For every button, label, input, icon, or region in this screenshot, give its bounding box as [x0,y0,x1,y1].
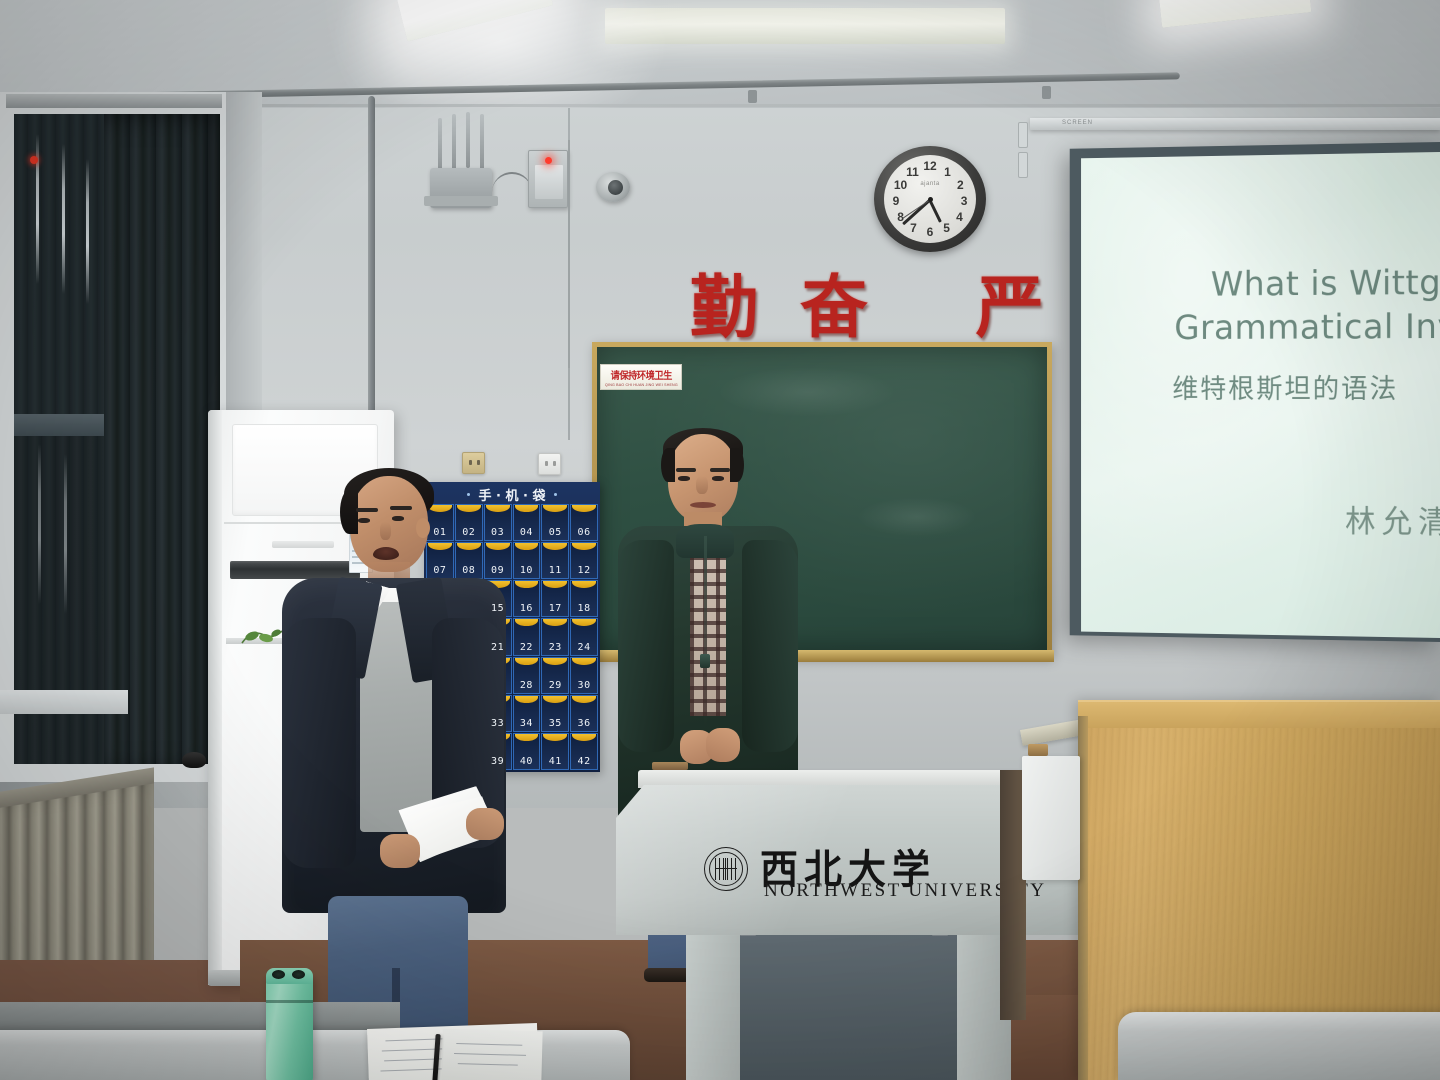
pocket-number: 11 [549,565,562,576]
clock-numeral-7: 7 [910,221,917,235]
notebook-right-line-2 [454,1053,526,1056]
lectern-leg-left [686,932,741,1080]
slide-author: 林允清 [1345,496,1440,542]
pocket-number: 21 [491,642,504,653]
clock-numeral-10: 10 [894,178,907,192]
green-thermos[interactable] [266,972,313,1080]
pocket-number: 36 [578,718,591,729]
podium-object-wood [652,762,688,770]
person-center-nose [696,476,708,494]
chalk-smudge-1 [717,367,897,417]
window-sill [0,690,128,714]
blind-rail [14,414,114,436]
white-equipment-box [1022,756,1080,880]
pocket-number: 24 [578,642,591,653]
notebook-right-page [441,1029,542,1080]
person-center-zipper-pull [700,654,710,668]
wall-outlet-white[interactable] [538,453,561,475]
pocket-number: 07 [433,565,446,576]
notebook-right-line-1 [456,1043,522,1046]
jammer-antenna-4 [480,114,484,170]
thermos-band [266,1000,313,1003]
pocket-number: 39 [491,756,504,767]
phone-pocket-28[interactable]: 28 [513,657,541,694]
clock-face: ajanta 12 1 2 3 4 5 6 7 8 9 10 11 [884,155,976,243]
phone-pocket-12[interactable]: 12 [570,542,598,579]
person-left-mouth-speaking [373,547,399,560]
clock-numeral-3: 3 [961,194,968,208]
ac-left-edge [208,410,222,985]
phone-pocket-10[interactable]: 10 [513,542,541,579]
phone-pocket-29[interactable]: 29 [541,657,569,694]
pocket-number: 22 [520,642,533,653]
header-dot-2 [554,493,557,496]
screen-mount-hook-1 [1018,122,1028,148]
thermos-opening-1 [272,970,285,979]
ac-power-led [30,156,38,164]
pocket-number: 12 [578,565,591,576]
pocket-number: 05 [549,527,562,538]
chalk-smudge-2 [857,497,977,537]
hygiene-notice-sign: 请保持环境卫生 QING BAO CHI HUAN JING WEI SHENG [600,364,682,390]
window-glass [14,114,220,764]
pocket-number: 15 [491,603,504,614]
window-blind-lower [14,436,112,764]
jammer-bracket [424,196,498,206]
pocket-number: 01 [433,527,446,538]
clock-center-pin [928,197,933,202]
clock-second-hand [902,199,930,219]
jammer-antenna-3 [466,112,470,168]
pocket-number: 29 [549,680,562,691]
sign-main-text: 请保持环境卫生 [610,367,671,382]
ceiling-light-2 [605,8,1005,44]
lectern-back-panel [740,934,957,1080]
person-center-brow-left [676,468,696,472]
pocket-number: 03 [491,527,504,538]
projection-surface: What is Wittg Grammatical Inv 维特根斯坦的语法 林… [1081,152,1440,638]
person-left-brow-left [356,508,378,512]
console-small-object [1028,744,1048,756]
person-left-nose [380,522,391,540]
seal-core [715,858,737,880]
pocket-number: 34 [520,718,533,729]
phone-pocket-16[interactable]: 16 [513,580,541,617]
phone-pocket-42[interactable]: 42 [570,733,598,770]
phone-pocket-30[interactable]: 30 [570,657,598,694]
notebook-right-line-3 [458,1063,518,1066]
pocket-number: 30 [578,680,591,691]
clock-numeral-2: 2 [957,178,964,192]
clock-numeral-1: 1 [944,165,951,179]
person-left-ear [416,518,430,538]
blind-light-slit-2 [62,144,65,294]
pocket-number: 18 [578,603,591,614]
phone-pocket-17[interactable]: 17 [541,580,569,617]
podium-microphone [182,752,206,768]
slide-title-line2: Grammatical Inv [1174,304,1440,349]
camera-lens-icon [608,180,623,195]
university-seal-icon [704,847,748,891]
pocket-number: 23 [549,642,562,653]
conduit-clip-3 [1042,86,1051,99]
phone-pocket-06[interactable]: 06 [570,504,598,541]
blind-light-slit-5 [64,454,67,614]
person-center-plaid-shirt [690,536,726,716]
person-left-arm-left [282,618,356,868]
left-window [0,92,232,782]
person-left-eye-right [392,516,404,521]
person-left-eye-left [358,518,370,523]
outlet-hole-2 [477,460,480,465]
screen-mount-hook-2 [1018,152,1028,178]
clock-hour-hand [929,200,942,223]
pocket-number: 09 [491,565,504,576]
pocket-number: 35 [549,718,562,729]
person-center-mouth [690,502,716,508]
phone-pocket-05[interactable]: 05 [541,504,569,541]
pocket-number: 04 [520,527,533,538]
clock-numeral-12: 12 [923,159,936,173]
pocket-number: 41 [549,756,562,767]
power-indicator-led [545,157,552,164]
curtain-rod [6,94,222,108]
phone-pocket-40[interactable]: 40 [513,733,541,770]
phone-pocket-34[interactable]: 34 [513,695,541,732]
phone-pocket-41[interactable]: 41 [541,733,569,770]
pocket-number: 08 [462,565,475,576]
blind-light-slit-4 [38,444,41,604]
power-box-panel [535,165,563,199]
person-center-zipper [704,536,707,726]
phone-pocket-11[interactable]: 11 [541,542,569,579]
phone-pocket-36[interactable]: 36 [570,695,598,732]
clock-numeral-4: 4 [956,210,963,224]
thermos-opening-2 [292,970,305,979]
screen-rail-label: SCREEN [1062,120,1093,126]
conduit-pipe-vertical [368,96,375,416]
pocket-number: 16 [520,603,533,614]
pocket-number: 40 [520,756,533,767]
outlet-hole-3 [545,461,548,466]
slide-subtitle: 维特根斯坦的语法 [1172,367,1440,406]
person-center-brow-right [710,468,730,472]
clock-numeral-5: 5 [943,221,950,235]
pocket-number: 10 [520,565,533,576]
pocket-number: 42 [578,756,591,767]
phone-pocket-23[interactable]: 23 [541,618,569,655]
conduit-clip-2 [748,90,757,103]
sign-sub-text: QING BAO CHI HUAN JING WEI SHENG [605,382,678,387]
wall-clock: ajanta 12 1 2 3 4 5 6 7 8 9 10 11 [874,146,986,252]
clock-brand: ajanta [920,181,939,187]
person-center-arm-right [742,540,798,752]
blind-light-slit-3 [86,159,89,304]
clock-numeral-11: 11 [906,165,919,179]
phone-pocket-35[interactable]: 35 [541,695,569,732]
person-center-arm-left [618,540,674,752]
pocket-number: 06 [578,527,591,538]
phone-pocket-22[interactable]: 22 [513,618,541,655]
person-left-brow-right [390,506,412,510]
window-curtain[interactable] [104,114,220,764]
projection-screen: What is Wittg Grammatical Inv 维特根斯坦的语法 林… [1070,142,1440,642]
classroom-photo-scene: 勤奋 严谨 ajanta 12 1 2 3 4 5 6 7 8 9 10 11 [0,0,1440,1080]
person-center-eye-left [678,476,690,481]
front-desk-right[interactable] [1118,1012,1440,1080]
phone-pocket-24[interactable]: 24 [570,618,598,655]
phone-pocket-18[interactable]: 18 [570,580,598,617]
person-center-eye-right [712,476,724,481]
jammer-antenna-2 [452,114,456,170]
person-center-hand-right [706,728,740,762]
person-left-hair-side [340,490,358,534]
hanging-wire [568,140,570,440]
person-center-hair-right [730,448,744,482]
pocket-number: 28 [520,680,533,691]
outlet-hole-1 [469,460,472,465]
pocket-number: 17 [549,603,562,614]
clock-numeral-9: 9 [893,194,900,208]
jammer-antenna-1 [438,118,442,174]
slide-title-line1: What is Wittg [1211,263,1440,304]
phone-pocket-04[interactable]: 04 [513,504,541,541]
person-center-hair-left [661,448,675,482]
pocket-number: 02 [462,527,475,538]
person-left-hand-left [380,834,420,868]
pocket-number: 33 [491,718,504,729]
outlet-hole-4 [553,461,556,466]
person-left-hand-right [466,808,504,840]
console-top-lip [1078,700,1440,728]
clock-numeral-6: 6 [927,225,934,239]
slide-title: What is Wittg Grammatical Inv [1211,260,1440,349]
